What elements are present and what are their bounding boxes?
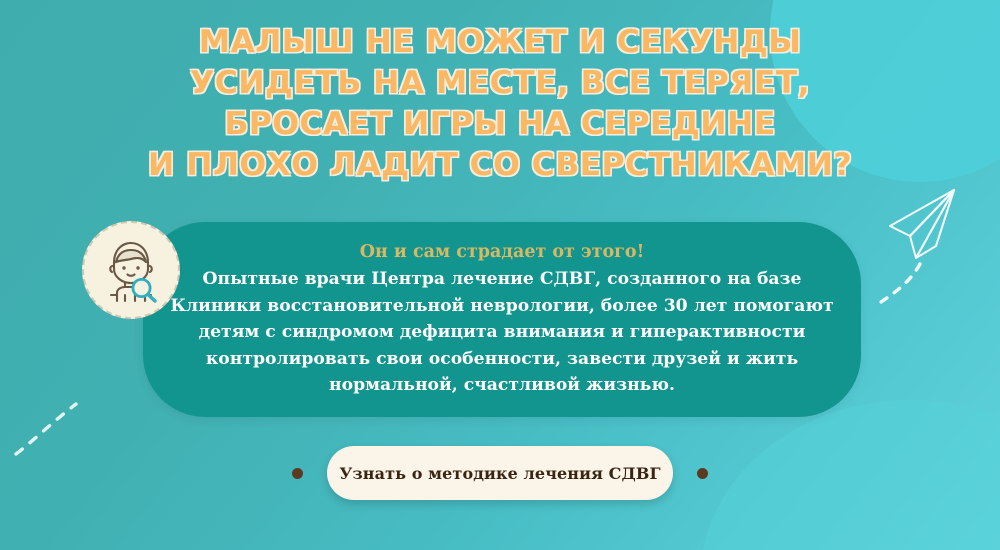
info-card: Он и сам страдает от этого! Опытные врач… (143, 222, 861, 417)
info-card-body-line-5: нормальной, счастливой жизнью. (143, 372, 861, 399)
info-card-body: Опытные врачи Центра лечение СДВГ, созда… (143, 266, 861, 399)
avatar (82, 221, 180, 319)
info-card-body-line-4: контролировать свои особенности, завести… (143, 346, 861, 373)
headline-line-4: И ПЛОХО ЛАДИТ СО СВЕРСТНИКАМИ? (0, 145, 1000, 186)
hero-banner: МАЛЫШ НЕ МОЖЕТ И СЕКУНДЫ УСИДЕТЬ НА МЕСТ… (0, 0, 1000, 550)
paper-plane-icon (876, 186, 994, 311)
headline-line-2: УСИДЕТЬ НА МЕСТЕ, ВСЕ ТЕРЯЕТ, (0, 63, 1000, 104)
learn-about-method-button[interactable]: Узнать о методике лечения СДВГ (327, 446, 673, 500)
info-card-body-line-1: Опытные врачи Центра лечение СДВГ, созда… (143, 266, 861, 293)
info-card-body-line-3: детям с синдромом дефицита внимания и ги… (143, 319, 861, 346)
headline-line-1: МАЛЫШ НЕ МОЖЕТ И СЕКУНДЫ (0, 22, 1000, 63)
cta-row: Узнать о методике лечения СДВГ (0, 446, 1000, 500)
info-card-content: Он и сам страдает от этого! Опытные врач… (143, 222, 861, 399)
cta-dot-right-icon (697, 468, 708, 479)
page-title: МАЛЫШ НЕ МОЖЕТ И СЕКУНДЫ УСИДЕТЬ НА МЕСТ… (0, 22, 1000, 186)
headline-line-3: БРОСАЕТ ИГРЫ НА СЕРЕДИНЕ (0, 104, 1000, 145)
info-card-lead: Он и сам страдает от этого! (143, 239, 861, 265)
cta-dot-left-icon (292, 468, 303, 479)
info-card-body-line-2: Клиники восстановительной неврологии, бо… (143, 293, 861, 320)
child-with-magnifier-icon (94, 233, 168, 307)
